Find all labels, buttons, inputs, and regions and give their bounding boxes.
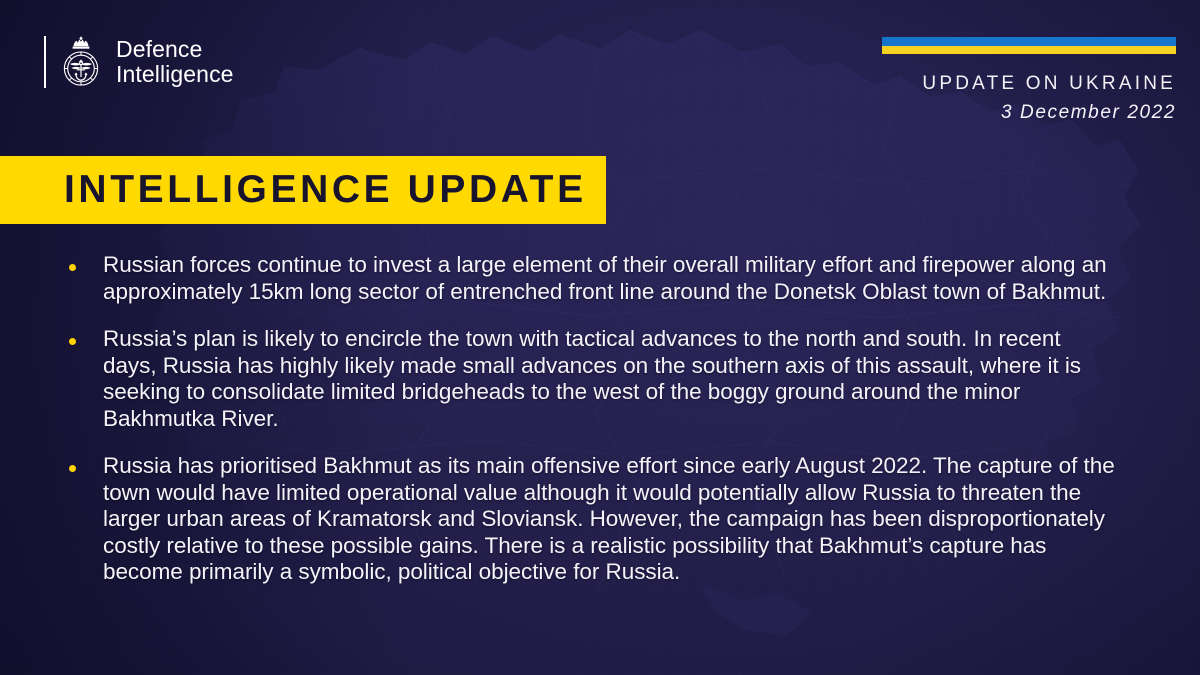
flag-blue-band [882,37,1176,46]
list-item: Russia’s plan is likely to encircle the … [60,326,1120,432]
bullet-list: Russian forces continue to invest a larg… [60,252,1120,586]
vertical-rule-icon [44,36,46,88]
list-item: Russian forces continue to invest a larg… [60,252,1120,305]
ukraine-flag-bar-icon [882,37,1176,54]
update-label: UPDATE ON UKRAINE [922,73,1176,95]
bullet-text: Russia’s plan is likely to encircle the … [103,326,1120,432]
defence-intelligence-logo: Defence Intelligence [44,33,234,91]
update-date: 3 December 2022 [1001,102,1176,124]
intelligence-update-banner: INTELLIGENCE UPDATE [0,156,606,224]
bullet-dot-icon [69,264,76,271]
bullet-dot-icon [69,465,76,472]
page-title: INTELLIGENCE UPDATE [0,168,587,212]
logo-organisation-name: Defence Intelligence [116,37,234,87]
header: Defence Intelligence UPDATE ON UKRAINE 3… [0,0,1200,140]
bullet-dot-icon [69,338,76,345]
bullet-text: Russia has prioritised Bakhmut as its ma… [103,453,1120,586]
intelligence-update-poster: Defence Intelligence UPDATE ON UKRAINE 3… [0,0,1200,675]
bullet-text: Russian forces continue to invest a larg… [103,252,1120,305]
list-item: Russia has prioritised Bakhmut as its ma… [60,453,1120,586]
mod-defence-crest-icon [58,33,104,91]
flag-yellow-band [882,46,1176,55]
